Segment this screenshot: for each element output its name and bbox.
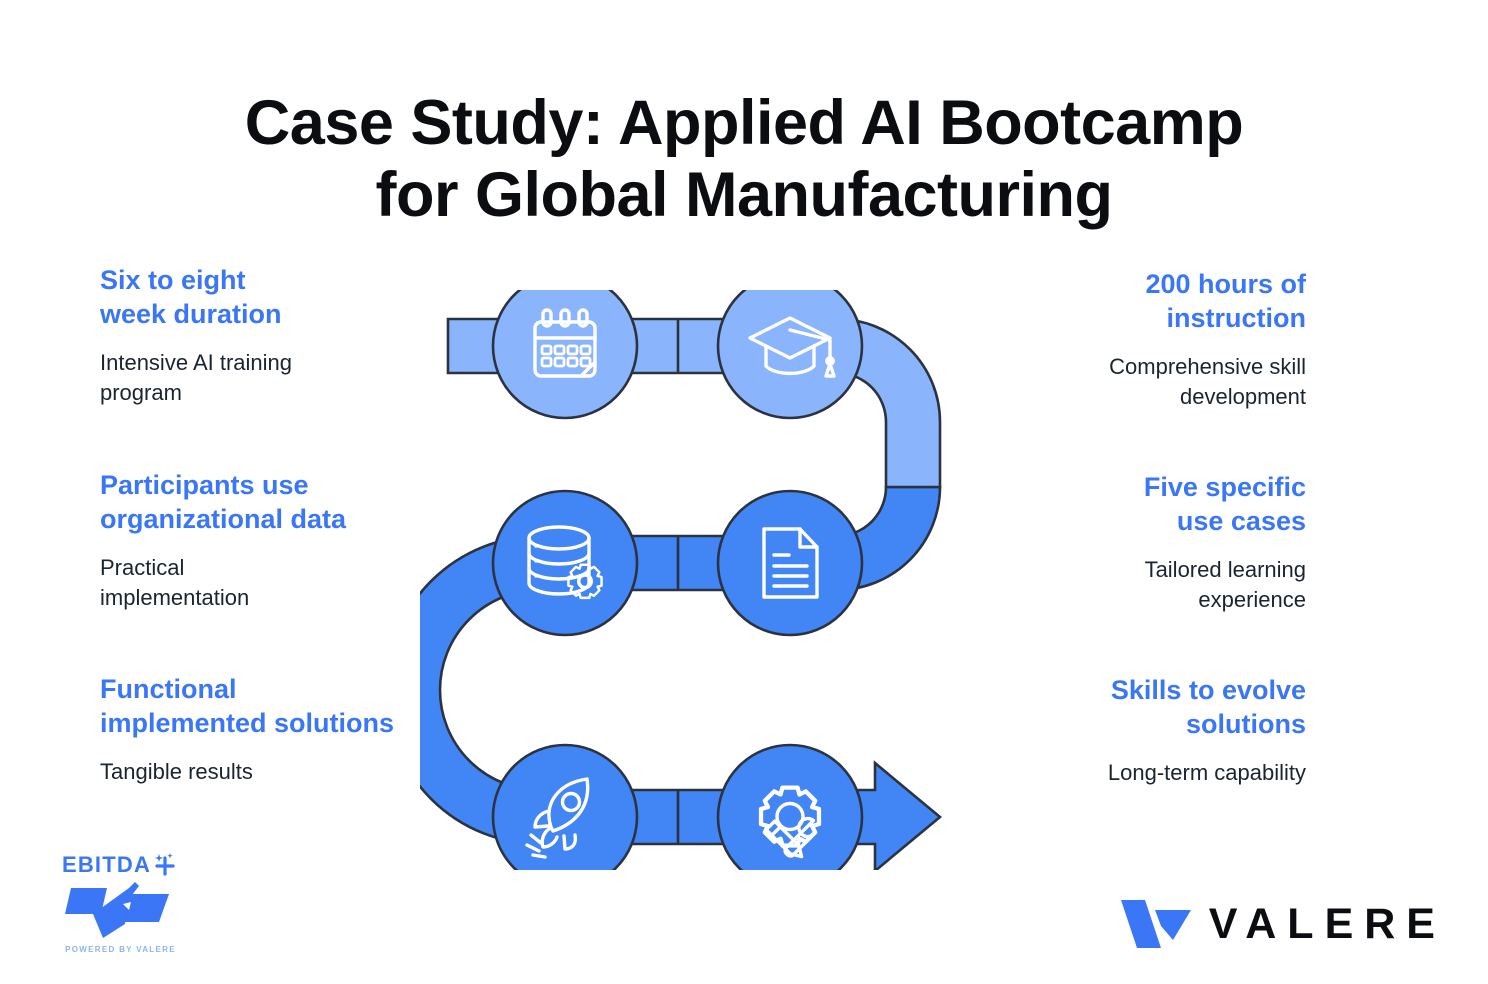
- v-mark: [1117, 896, 1195, 952]
- subtext-line-2: implementation: [100, 585, 249, 610]
- callout-right-2: Five specific use cases Tailored learnin…: [976, 470, 1306, 615]
- heading-line-2: implemented solutions: [100, 708, 394, 738]
- heading-line-1: Skills to evolve: [1111, 675, 1306, 705]
- valere-wordmark: VALERE: [1209, 903, 1446, 946]
- callout-left-1-heading: Six to eight week duration: [100, 263, 460, 332]
- ebitda-plus-logo: EBITDA POWERED BY VALERE: [38, 852, 203, 970]
- heading-line-1: Participants use: [100, 470, 309, 500]
- callout-left-1-subtext: Intensive AI training program: [100, 348, 460, 409]
- heading-line-1: Functional: [100, 674, 237, 704]
- heading-line-1: 200 hours of: [1145, 269, 1306, 299]
- subtext-line-2: experience: [1198, 587, 1306, 612]
- subtext-line-1: Tangible results: [100, 759, 253, 784]
- node-4-circle: [718, 491, 862, 635]
- heading-line-1: Six to eight: [100, 265, 246, 295]
- callout-right-1-heading: 200 hours of instruction: [976, 267, 1306, 336]
- process-flow-diagram: .ic{fill:none;stroke:#ffffff;stroke-widt…: [420, 290, 1020, 870]
- valere-logo: VALERE: [1117, 896, 1446, 952]
- callout-right-1-subtext: Comprehensive skill development: [976, 352, 1306, 413]
- page-title: Case Study: Applied AI Bootcamp for Glob…: [0, 88, 1488, 232]
- callout-right-2-heading: Five specific use cases: [976, 470, 1306, 539]
- ebitda-wordmark-row: EBITDA: [38, 852, 203, 878]
- title-line-2: for Global Manufacturing: [0, 160, 1488, 232]
- heading-line-2: organizational data: [100, 504, 346, 534]
- ebitda-mark-wrap: [38, 880, 203, 942]
- title-line-1: Case Study: Applied AI Bootcamp: [245, 88, 1243, 158]
- ebitda-tagline: POWERED BY VALERE: [38, 945, 203, 954]
- v-rocket-mark: [63, 880, 179, 942]
- infographic-canvas: Case Study: Applied AI Bootcamp for Glob…: [0, 0, 1488, 984]
- subtext-line-1: Tailored learning: [1145, 557, 1306, 582]
- callout-right-1: 200 hours of instruction Comprehensive s…: [976, 267, 1306, 412]
- sparkle-plus-icon: [151, 852, 179, 878]
- ebitda-wordmark: EBITDA: [62, 852, 151, 878]
- subtext-line-2: program: [100, 380, 182, 405]
- callout-right-2-subtext: Tailored learning experience: [976, 555, 1306, 616]
- heading-line-1: Five specific: [1144, 472, 1306, 502]
- subtext-line-1: Long-term capability: [1108, 760, 1306, 785]
- subtext-line-1: Comprehensive skill: [1109, 354, 1306, 379]
- callout-left-1: Six to eight week duration Intensive AI …: [100, 263, 460, 408]
- node-2-circle: [718, 290, 862, 418]
- heading-line-2: solutions: [1186, 709, 1306, 739]
- heading-line-2: week duration: [100, 299, 282, 329]
- subtext-line-1: Intensive AI training: [100, 350, 292, 375]
- subtext-line-1: Practical: [100, 555, 184, 580]
- heading-line-2: use cases: [1177, 506, 1306, 536]
- subtext-line-2: development: [1180, 384, 1306, 409]
- heading-line-2: instruction: [1167, 303, 1307, 333]
